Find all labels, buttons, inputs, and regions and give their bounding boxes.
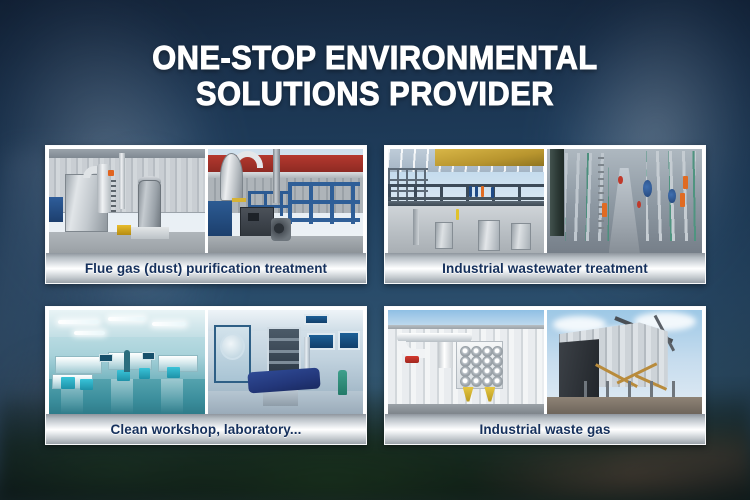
poster-canvas: ONE-STOP ENVIRONMENTAL SOLUTIONS PROVIDE… — [0, 0, 750, 500]
page-title-line-1: ONE-STOP ENVIRONMENTAL — [26, 40, 724, 76]
photo-cartridge-dust-collector — [388, 310, 544, 414]
service-card-clean-workshop[interactable]: Clean workshop, laboratory... — [45, 306, 367, 445]
card-caption-flue-gas: Flue gas (dust) purification treatment — [46, 253, 366, 283]
card-caption-clean-workshop: Clean workshop, laboratory... — [46, 414, 366, 444]
photo-red-roof-plant — [208, 149, 364, 253]
photo-operating-theatre — [208, 310, 364, 414]
photo-pair — [385, 307, 705, 414]
page-title-line-2: SOLUTIONS PROVIDER — [26, 76, 724, 112]
photo-cleanroom-workshop — [49, 310, 205, 414]
service-card-grid: Flue gas (dust) purification treatment — [45, 145, 706, 450]
photo-pair — [385, 146, 705, 253]
photo-pair — [46, 307, 366, 414]
page-title: ONE-STOP ENVIRONMENTAL SOLUTIONS PROVIDE… — [26, 40, 724, 112]
photo-baghouse-steel-structure — [547, 310, 703, 414]
photo-process-plant-aisle — [547, 149, 703, 253]
photo-pair — [46, 146, 366, 253]
service-card-industrial-wastewater[interactable]: Industrial wastewater treatment — [384, 145, 706, 284]
card-caption-industrial-waste-gas: Industrial waste gas — [385, 414, 705, 444]
photo-flue-gas-scrubber — [49, 149, 205, 253]
service-card-flue-gas[interactable]: Flue gas (dust) purification treatment — [45, 145, 367, 284]
card-caption-industrial-wastewater: Industrial wastewater treatment — [385, 253, 705, 283]
photo-wastewater-plant-hall — [388, 149, 544, 253]
service-card-industrial-waste-gas[interactable]: Industrial waste gas — [384, 306, 706, 445]
